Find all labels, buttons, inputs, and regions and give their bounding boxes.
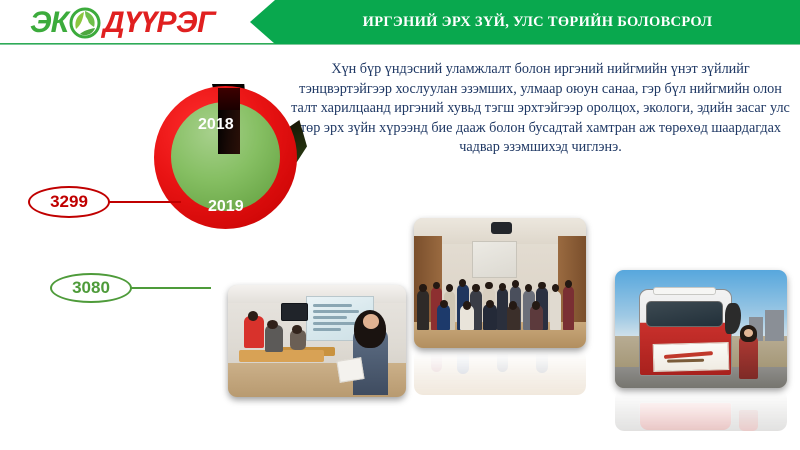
photo-3-scene <box>615 270 787 388</box>
callout-2018: 3299 <box>28 186 110 218</box>
callout-leader-line-2018 <box>109 201 181 203</box>
classroom-presentation-photo <box>228 285 406 397</box>
doughnut-chart: 2018 2019 3299 3080 <box>10 78 300 258</box>
callout-2018-value: 3299 <box>50 192 88 212</box>
page-title: ИРГЭНИЙ ЭРХ ЗҮЙ, УЛС ТӨРИЙН БОЛОВСРОЛ <box>275 0 800 44</box>
logo-text-red: ДҮҮРЭГ <box>103 6 215 40</box>
body-paragraph: Хүн бүр үндэсний уламжлалт болон иргэний… <box>288 60 793 158</box>
bus-outdoor-photo <box>615 270 787 388</box>
photo-1-scene <box>228 285 406 397</box>
group-photo <box>414 218 586 348</box>
bus-banner <box>652 342 728 372</box>
chart-slice-gap-top <box>218 88 240 110</box>
slide: ЭК ДҮҮРЭГ ИРГЭНИЙ ЭРХ ЗҮЙ, УЛС ТӨРИЙН БО… <box>0 0 800 450</box>
chart-graphic: 2018 2019 <box>150 78 310 253</box>
chart-label-2018: 2018 <box>198 116 234 134</box>
callout-2019-value: 3080 <box>72 278 110 298</box>
bus-photo-reflection <box>615 389 787 431</box>
group-photo-reflection <box>414 349 586 395</box>
brand-logo: ЭК ДҮҮРЭГ <box>30 6 215 40</box>
crowd <box>417 265 582 330</box>
eco-leaf-circle-icon <box>68 7 102 39</box>
chart-label-2019: 2019 <box>208 198 244 216</box>
callout-2019: 3080 <box>50 273 132 303</box>
wall-monitor <box>281 303 308 321</box>
logo-text-green: ЭК <box>30 6 68 40</box>
callout-leader-line-2019 <box>131 287 211 289</box>
photo-2-scene <box>414 218 586 348</box>
slide-header: ЭК ДҮҮРЭГ ИРГЭНИЙ ЭРХ ЗҮЙ, УЛС ТӨРИЙН БО… <box>0 0 800 50</box>
